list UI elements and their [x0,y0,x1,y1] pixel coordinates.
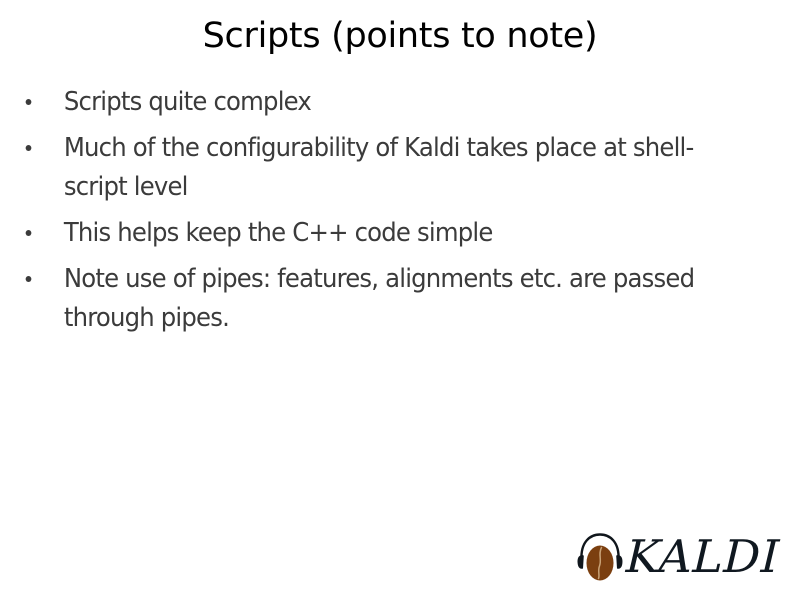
kaldi-wordmark: KALDI [625,533,780,581]
bullet-dot-icon [26,230,32,236]
bullet-text: Note use of pipes: features, alignments … [64,260,744,338]
bullet-text: Much of the configurability of Kaldi tak… [64,129,744,207]
coffee-bean-headphones-icon [575,530,625,584]
kaldi-logo: KALDI [575,528,780,586]
bullet-dot-icon [26,145,32,151]
bullet-dot-icon [26,276,32,282]
list-item: This helps keep the C++ code simple [18,214,744,253]
list-item: Note use of pipes: features, alignments … [18,260,744,338]
bullet-text: This helps keep the C++ code simple [64,214,744,253]
list-item: Much of the configurability of Kaldi tak… [18,129,744,207]
bullet-dot-icon [26,99,32,105]
bullet-text: Scripts quite complex [64,83,744,122]
slide-canvas: Scripts (points to note) Scripts quite c… [0,0,800,599]
page-title: Scripts (points to note) [0,14,800,58]
bullet-list: Scripts quite complex Much of the config… [18,83,778,345]
list-item: Scripts quite complex [18,83,744,122]
